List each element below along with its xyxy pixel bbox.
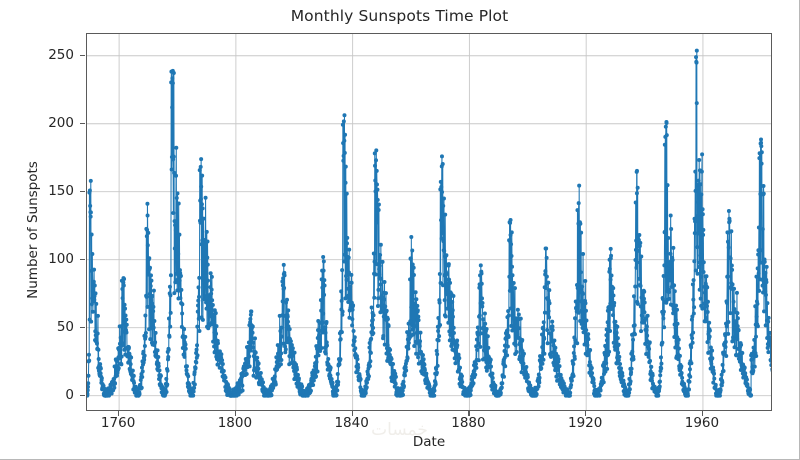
sunspots-figure: Monthly Sunspots Time Plot Number of Sun… xyxy=(0,0,800,460)
x-tick-label: 1920 xyxy=(568,415,602,431)
x-tick-mark xyxy=(702,411,703,416)
y-tick-mark xyxy=(80,191,85,192)
y-tick-label: 0 xyxy=(65,387,74,403)
y-tick-label: 200 xyxy=(48,115,74,131)
sunspots-markers xyxy=(87,49,772,398)
y-tick-label: 250 xyxy=(48,47,74,63)
x-tick-mark xyxy=(585,411,586,416)
sunspots-line xyxy=(87,51,772,396)
y-tick-mark xyxy=(80,327,85,328)
y-tick-mark xyxy=(80,55,85,56)
y-tick-label: 100 xyxy=(48,251,74,267)
y-tick-mark xyxy=(80,259,85,260)
x-tick-label: 1880 xyxy=(451,415,485,431)
x-axis-label: Date xyxy=(86,434,772,450)
y-tick-label: 50 xyxy=(57,319,74,335)
plot-area xyxy=(86,33,772,411)
x-tick-label: 1760 xyxy=(101,415,135,431)
x-tick-label: 1840 xyxy=(334,415,368,431)
sunspots-series-svg xyxy=(87,34,772,411)
x-tick-mark xyxy=(235,411,236,416)
x-tick-mark xyxy=(118,411,119,416)
grid-lines xyxy=(87,34,772,411)
x-tick-mark xyxy=(352,411,353,416)
y-tick-label-group: 050100150200250 xyxy=(0,33,74,411)
chart-title: Monthly Sunspots Time Plot xyxy=(0,7,799,25)
y-tick-label: 150 xyxy=(48,183,74,199)
x-tick-label-group: 176018001840188019201960 xyxy=(86,415,772,435)
y-tick-mark xyxy=(80,123,85,124)
x-tick-mark xyxy=(468,411,469,416)
y-tick-mark xyxy=(80,395,85,396)
x-tick-label: 1800 xyxy=(218,415,252,431)
x-tick-label: 1960 xyxy=(685,415,719,431)
